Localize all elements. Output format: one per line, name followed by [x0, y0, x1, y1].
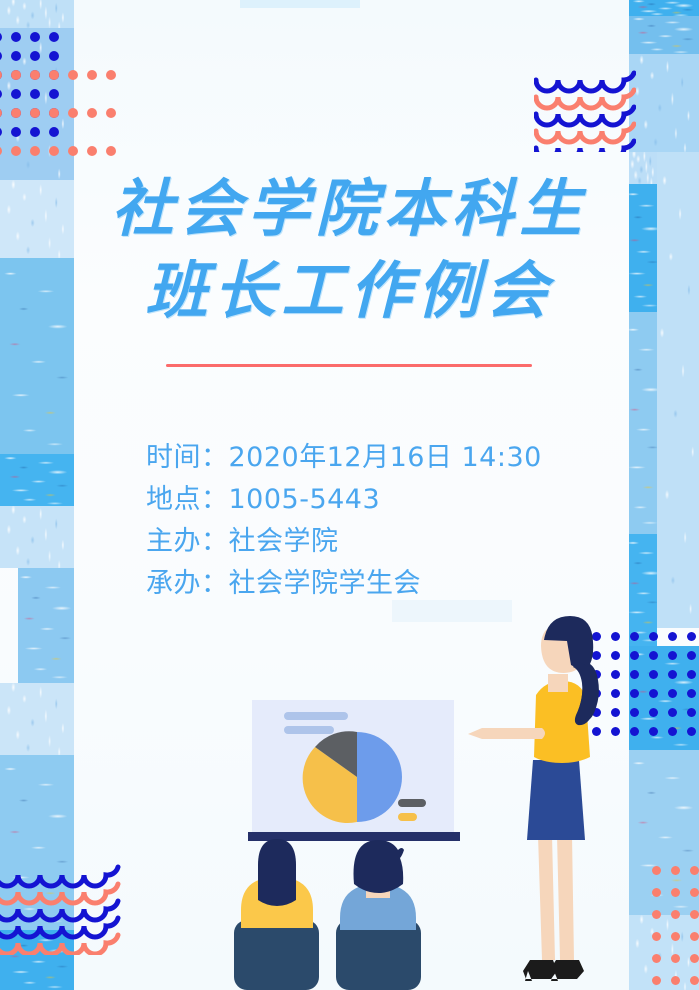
info-line-location: 地点：1005-5443 — [146, 479, 542, 521]
dot — [68, 146, 78, 156]
dot — [11, 146, 21, 156]
event-info-block: 时间：2020年12月16日 14:30 地点：1005-5443 主办：社会学… — [146, 437, 542, 605]
waves-top-right — [534, 60, 636, 152]
dot — [30, 146, 40, 156]
title-divider — [166, 364, 532, 367]
dot — [0, 51, 2, 61]
dot — [49, 51, 59, 61]
dot — [30, 32, 40, 42]
dot — [0, 146, 2, 156]
dot — [49, 32, 59, 42]
band-mid-top — [240, 0, 360, 8]
audience-man-hair — [354, 840, 405, 893]
presentation-scene — [0, 600, 699, 990]
info-line-organizer: 承办：社会学院学生会 — [146, 563, 542, 605]
dot — [68, 70, 78, 80]
dot — [49, 108, 59, 118]
audience-woman — [234, 839, 319, 990]
audience-woman-hair — [258, 839, 296, 906]
info-line-host: 主办：社会学院 — [146, 521, 542, 563]
dotgrid-top-left-coral — [0, 70, 125, 184]
dot — [87, 70, 97, 80]
dot — [87, 146, 97, 156]
band-left-1 — [0, 0, 74, 28]
dot — [49, 70, 59, 80]
dot — [30, 108, 40, 118]
dot — [106, 146, 116, 156]
presenter-legs — [538, 835, 574, 960]
dot — [106, 70, 116, 80]
dot — [0, 32, 2, 42]
dot — [0, 108, 2, 118]
dot — [30, 70, 40, 80]
presenter-shoe-right — [549, 960, 584, 981]
dot — [11, 51, 21, 61]
presenter-woman — [468, 616, 599, 981]
poster-canvas: 社会学院本科生 班长工作例会 时间：2020年12月16日 14:30 地点：1… — [0, 0, 699, 990]
presenter-skirt — [527, 760, 585, 840]
presenter-neck — [548, 674, 568, 692]
legend-swatch-gray — [398, 799, 426, 807]
info-line-time: 时间：2020年12月16日 14:30 — [146, 437, 542, 479]
dot — [87, 108, 97, 118]
dot — [106, 108, 116, 118]
dot — [68, 108, 78, 118]
board-text-bar-2 — [284, 726, 334, 734]
title-line-1: 社会学院本科生 — [0, 168, 699, 250]
band-right-6 — [629, 312, 657, 534]
title-line-2: 班长工作例会 — [0, 250, 699, 332]
band-right-3 — [629, 54, 699, 152]
dot — [11, 108, 21, 118]
board-text-bar-1 — [284, 712, 348, 720]
band-right-1 — [629, 0, 699, 16]
audience-woman-chair — [234, 920, 319, 990]
pie-chart — [303, 731, 402, 823]
legend-swatch-yellow — [398, 813, 417, 821]
band-left-6 — [0, 506, 74, 568]
band-right-2 — [629, 16, 699, 54]
dot — [30, 51, 40, 61]
dot — [11, 70, 21, 80]
presenter-arm — [468, 728, 545, 739]
band-left-5 — [0, 454, 74, 506]
poster-title: 社会学院本科生 班长工作例会 — [0, 168, 699, 332]
wave-row — [536, 73, 634, 91]
audience-man — [336, 840, 421, 990]
audience-man-chair — [336, 920, 421, 990]
dot — [11, 32, 21, 42]
dot — [49, 146, 59, 156]
dot — [0, 70, 2, 80]
